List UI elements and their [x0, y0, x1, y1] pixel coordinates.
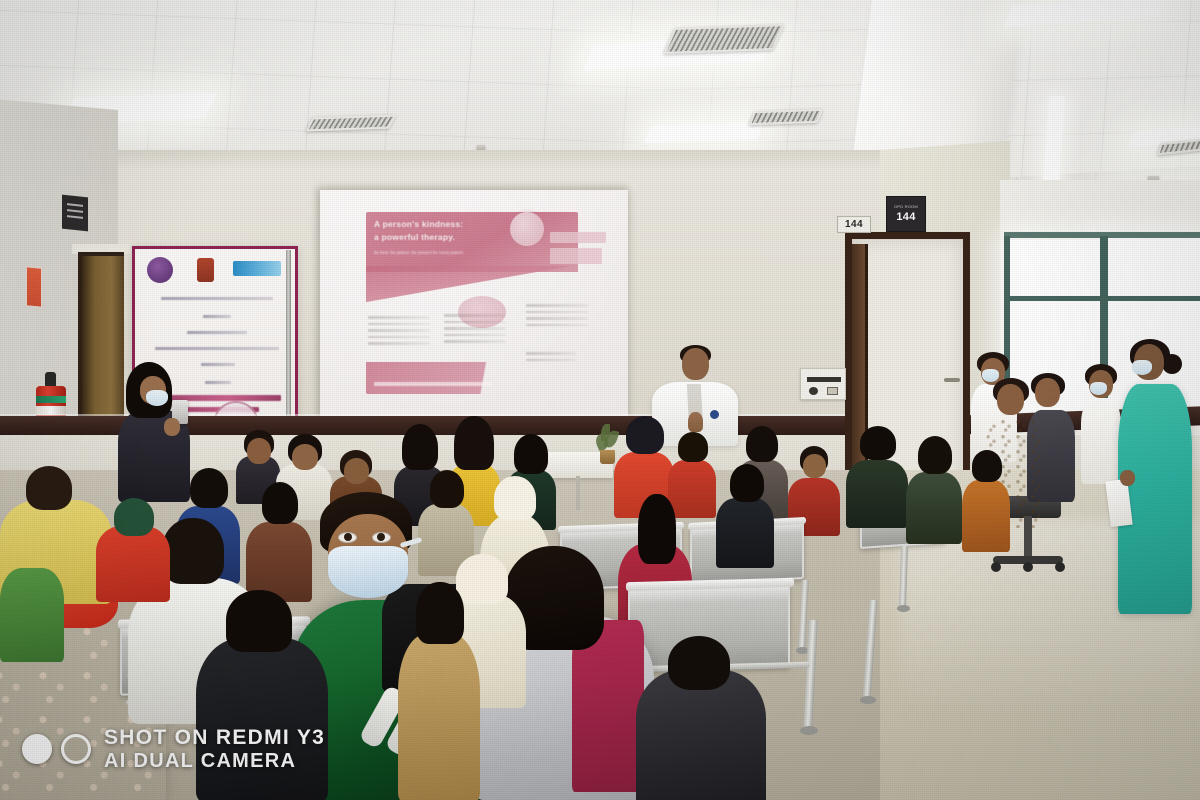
audience-person	[962, 452, 1010, 550]
photograph-hospital-session: A person's kindness: a powerful therapy.…	[0, 0, 1200, 800]
slide-title-line1: A person's kindness:	[374, 218, 534, 230]
banner-org-line	[161, 297, 273, 300]
attendee-hand	[164, 418, 180, 436]
camera-watermark: SHOT ON REDMI Y3 AI DUAL CAMERA	[22, 726, 325, 772]
audience-torso	[716, 498, 774, 568]
door-plaque-caption: OPD ROOM	[894, 205, 918, 210]
person-hair	[26, 466, 72, 510]
audience-head	[803, 454, 826, 478]
foreground-person-rear	[636, 640, 766, 800]
bench-foot	[800, 726, 818, 735]
audience-head	[247, 438, 271, 464]
banner-conjunction	[203, 315, 231, 318]
green-head-cover	[114, 498, 154, 536]
seated-woman-head	[997, 384, 1024, 415]
partner-logo	[233, 261, 281, 276]
slide-footer-band	[366, 362, 526, 394]
audience-hair	[730, 464, 764, 502]
slide-text-column	[368, 316, 430, 349]
dark-jacket	[196, 638, 328, 800]
side-table-leg	[576, 476, 580, 510]
watermark-line-2: AI DUAL CAMERA	[104, 750, 325, 772]
nurse-hand	[1120, 470, 1135, 486]
door-plaque-number: 144	[896, 211, 915, 223]
face-mask	[982, 369, 999, 382]
man-hair	[162, 518, 224, 584]
audience-head-covered	[626, 416, 664, 454]
person-hair	[226, 590, 292, 652]
audience-head	[292, 444, 318, 470]
seated-person-head	[1035, 378, 1060, 407]
face-mask	[1090, 382, 1107, 395]
door-room-number-plaque: OPD ROOM 144	[886, 196, 926, 232]
audience-person	[906, 438, 962, 542]
wall-room-number-text: 144	[845, 219, 863, 230]
audience-hair	[746, 426, 778, 462]
circle-outline-icon	[61, 734, 91, 764]
foreground-person-green	[0, 548, 64, 658]
audience-hair	[918, 436, 952, 474]
chair-caster	[991, 562, 1001, 572]
audience-hair	[972, 450, 1002, 482]
face-mask	[328, 546, 408, 598]
slide-side-box	[550, 232, 606, 243]
door-handle[interactable]	[944, 378, 960, 382]
audience-hair	[678, 432, 708, 462]
banner-city-line	[201, 363, 235, 366]
projection-screen: A person's kindness: a powerful therapy.…	[320, 190, 628, 418]
audience-hair-long	[402, 424, 438, 470]
audience-hair	[514, 434, 548, 474]
watermark-lens-icons	[22, 734, 91, 764]
face-mask	[146, 390, 168, 406]
audience-hair-long	[454, 416, 494, 470]
ac-diffuser-vent	[749, 109, 824, 125]
wall-switch-plate[interactable]	[800, 368, 846, 400]
slide-text-column	[526, 304, 588, 330]
presenter-head	[682, 348, 709, 380]
person-hair	[668, 636, 730, 690]
emblem-logo	[197, 258, 214, 282]
slide-subtitle: Be kind. Be patient. Be present for ever…	[374, 249, 542, 256]
banner-partner-line	[187, 331, 247, 334]
switch-socket[interactable]	[827, 387, 838, 395]
chair-caster	[1055, 562, 1065, 572]
switch-knob-round[interactable]	[809, 387, 818, 395]
slide-title-line2: a powerful therapy.	[374, 231, 534, 243]
audience-torso	[906, 472, 962, 544]
audience-head	[344, 458, 369, 484]
wall-room-number-tag: 144	[837, 216, 871, 233]
plant-pot	[600, 450, 615, 464]
extinguisher-green-band	[36, 396, 66, 403]
seated-person-white-top	[1081, 398, 1121, 484]
audience-person	[716, 468, 774, 564]
boy-eye-right	[372, 532, 391, 543]
corridor-direction-sign	[62, 195, 88, 232]
watermark-line-1: SHOT ON REDMI Y3	[104, 726, 325, 750]
presentation-slide: A person's kindness: a powerful therapy.…	[338, 204, 610, 400]
circle-filled-icon	[22, 734, 52, 764]
foreground-person-red-wrap	[96, 502, 170, 598]
girl-garment	[398, 634, 480, 800]
slide-footer-note	[374, 382, 492, 386]
boy-eye-left	[338, 532, 357, 543]
foreground-girl	[398, 582, 480, 800]
standing-nurse	[1118, 344, 1192, 614]
watermark-text: SHOT ON REDMI Y3 AI DUAL CAMERA	[104, 726, 325, 772]
audience-torso-patterned	[846, 460, 908, 528]
bench-foot	[897, 605, 910, 612]
banner-observes-line	[205, 381, 231, 384]
switch-plate-bar	[807, 377, 841, 382]
girl-hair	[416, 582, 464, 644]
bench-foot	[860, 696, 876, 704]
presenter-folded-hands	[688, 412, 703, 432]
red-wrap	[96, 526, 170, 602]
slide-side-box	[550, 248, 602, 264]
ac-diffuser-vent	[663, 24, 784, 54]
face-mask	[1132, 360, 1152, 375]
audience-hair	[190, 468, 228, 508]
nurse-hair-bun	[1162, 354, 1182, 374]
green-garment	[0, 568, 64, 662]
chair-caster	[1023, 562, 1033, 572]
audience-hair	[860, 426, 896, 460]
slide-text-column	[526, 352, 576, 365]
emergency-notice-sign	[26, 266, 42, 307]
banner-institute-line	[155, 347, 279, 350]
presenter-id-badge	[710, 410, 719, 419]
wall-upper-shadow-strip	[0, 150, 880, 168]
institute-seal-logo	[147, 257, 173, 283]
audience-torso	[962, 480, 1010, 552]
slide-text-column	[444, 314, 506, 347]
audience-person	[846, 430, 908, 526]
